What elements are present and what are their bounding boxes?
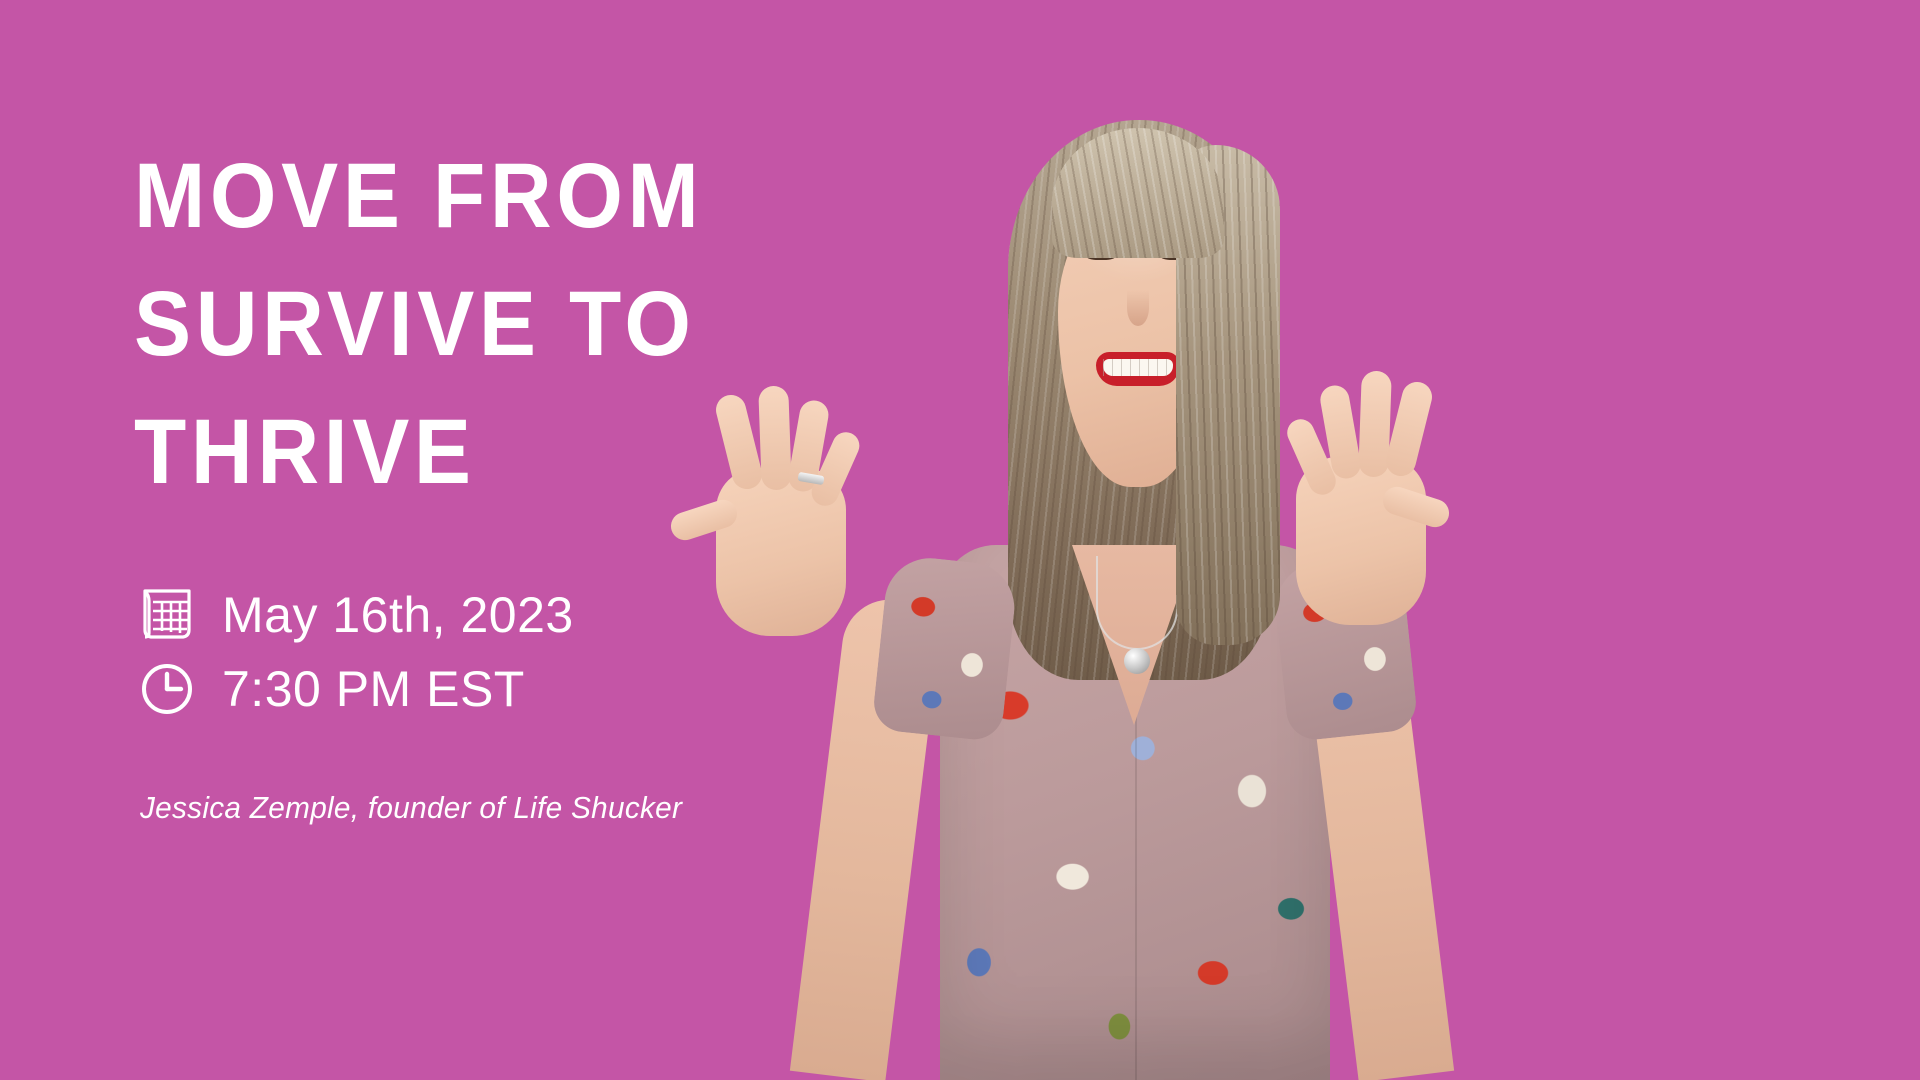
event-date-text: May 16th, 2023: [222, 590, 574, 640]
headline-line-2: SURVIVE TO: [134, 260, 841, 388]
nose: [1127, 290, 1149, 326]
event-date-row: May 16th, 2023: [134, 578, 894, 652]
event-details: May 16th, 2023 7:30 PM EST: [134, 578, 894, 726]
headline-line-1: MOVE FROM: [134, 132, 841, 260]
event-time-row: 7:30 PM EST: [134, 652, 894, 726]
mouth: [1096, 352, 1180, 386]
page-title: MOVE FROM SURVIVE TO THRIVE: [134, 132, 841, 516]
promo-banner: MOVE FROM SURVIVE TO THRIVE May 16th, 20…: [0, 0, 1920, 1080]
calendar-icon: [138, 586, 210, 644]
headline-line-3: THRIVE: [134, 388, 841, 516]
teeth: [1103, 359, 1173, 376]
text-column: MOVE FROM SURVIVE TO THRIVE May 16th, 20…: [134, 132, 894, 826]
necklace-chain: [1096, 556, 1178, 650]
clock-icon: [138, 660, 210, 718]
event-time-text: 7:30 PM EST: [222, 664, 525, 714]
speaker-byline: Jessica Zemple, founder of Life Shucker: [140, 790, 864, 826]
necklace-pendant: [1124, 648, 1150, 674]
